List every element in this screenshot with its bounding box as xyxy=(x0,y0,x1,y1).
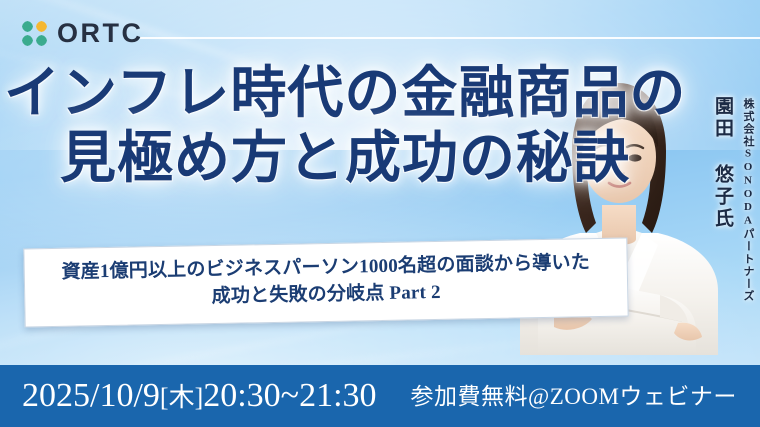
event-datetime: 2025/10/9[木]20:30~21:30 xyxy=(0,379,377,413)
petal-top-right xyxy=(36,21,47,32)
brand-wordmark: ORTC xyxy=(57,20,144,47)
presenter-name: 園田 悠子氏 xyxy=(709,96,736,302)
headline-line-1: インフレ時代の金融商品の xyxy=(0,62,660,127)
event-date: 2025/10/9 xyxy=(22,377,160,414)
petal-bottom-right xyxy=(36,35,47,46)
petal-top-left xyxy=(22,21,33,32)
event-time: 20:30~21:30 xyxy=(203,377,376,414)
header-divider-rule xyxy=(140,37,760,39)
brand-header[interactable]: ORTC xyxy=(22,20,144,47)
event-day-of-week: [木] xyxy=(160,383,203,412)
webinar-banner: ORTC インフレ時代の金融商品の 見極め方と成功の秘訣 資産1億円以上のビジネ… xyxy=(0,0,760,427)
event-footer-bar: 2025/10/9[木]20:30~21:30 参加費無料@ZOOMウェビナー xyxy=(0,365,760,427)
headline-line-2: 見極め方と成功の秘訣 xyxy=(0,127,660,192)
subtitle-plate: 資産1億円以上のビジネスパーソン1000名超の面談から導いた 成功と失敗の分岐点… xyxy=(23,237,628,327)
event-fee-note: 参加費無料@ZOOMウェビナー xyxy=(411,385,737,408)
presenter-credit: 園田 悠子氏 株式会社SONODAパートナーズ xyxy=(709,96,756,302)
petal-bottom-left xyxy=(22,35,33,46)
presenter-company: 株式会社SONODAパートナーズ xyxy=(740,96,756,302)
four-petal-dots-icon xyxy=(22,21,47,46)
headline-block: インフレ時代の金融商品の 見極め方と成功の秘訣 xyxy=(0,62,660,192)
